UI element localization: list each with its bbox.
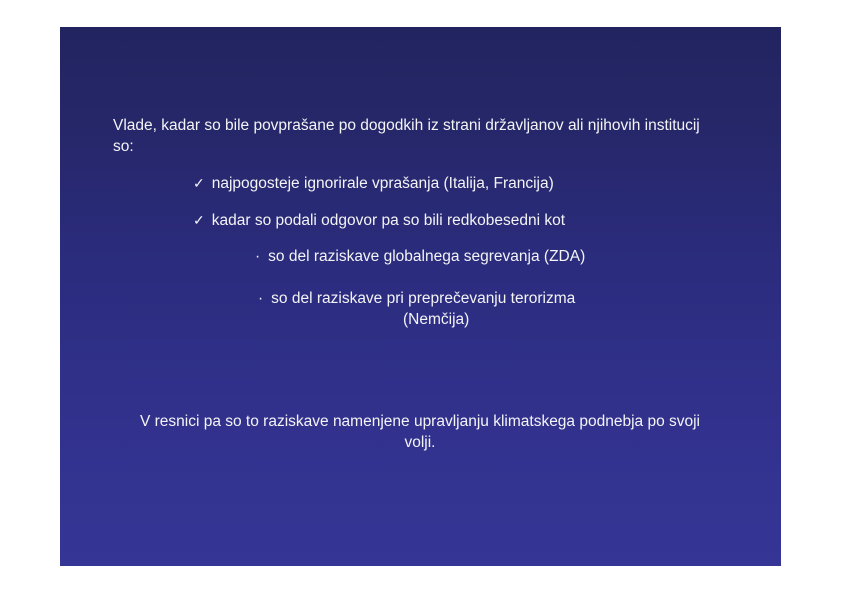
list-item-label: kadar so podali odgovor pa so bili redko… [212,210,733,231]
presentation-slide: Vlade, kadar so bile povprašane po dogod… [60,27,781,566]
closing-paragraph: V resnici pa so to raziskave namenjene u… [130,411,710,453]
list-item-label: najpogosteje ignorirale vprašanja (Itali… [212,173,733,194]
checkmark-bullet-icon: ✓ [193,210,212,231]
middot-bullet-icon: · [258,288,271,309]
middot-bullet-icon: · [255,246,268,267]
intro-paragraph: Vlade, kadar so bile povprašane po dogod… [113,115,713,157]
checkmark-bullet-icon: ✓ [193,173,212,194]
list-item: · so del raziskave globalnega segrevanja… [255,246,715,267]
list-item-label-line-2: (Nemčija) [271,309,601,330]
list-item-label: so del raziskave globalnega segrevanja (… [268,246,715,267]
page-canvas: Vlade, kadar so bile povprašane po dogod… [0,0,842,595]
list-item-label: so del raziskave pri preprečevanju teror… [271,288,718,330]
list-item: · so del raziskave pri preprečevanju ter… [258,288,718,330]
list-item: ✓ najpogosteje ignorirale vprašanja (Ita… [193,173,733,194]
list-item-label-line-1: so del raziskave pri preprečevanju teror… [271,290,575,307]
list-item: ✓ kadar so podali odgovor pa so bili red… [193,210,733,231]
